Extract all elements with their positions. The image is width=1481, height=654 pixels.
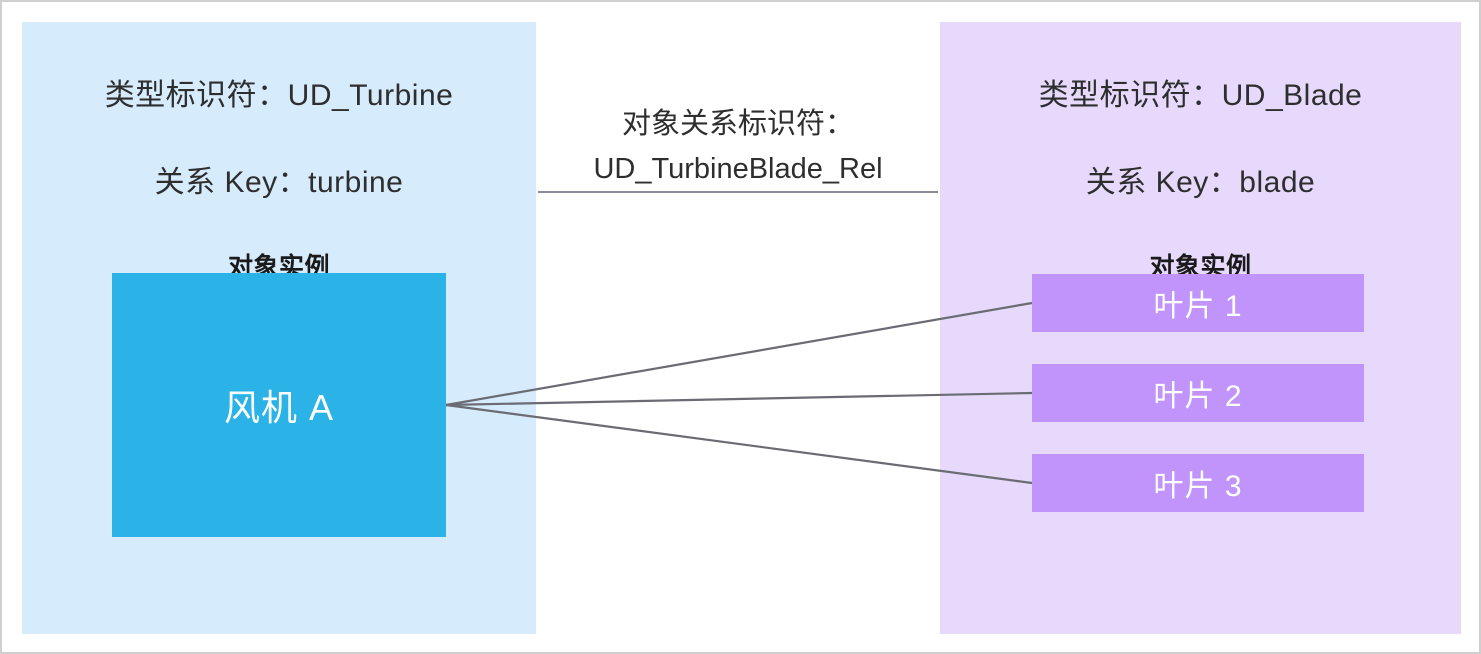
relation-underline-divider xyxy=(538,191,938,193)
blade-type-identifier-label: 类型标识符：UD_Blade xyxy=(940,70,1461,114)
blade-relation-key-label: 关系 Key：blade xyxy=(940,157,1461,201)
turbine-instance-label: 风机 A xyxy=(224,379,334,431)
relation-identifier-value: UD_TurbineBlade_Rel xyxy=(536,147,940,192)
diagram-canvas: 类型标识符：UD_Turbine 关系 Key：turbine 对象实例 类型标… xyxy=(0,0,1481,654)
relation-identifier-caption: 对象关系标识符： xyxy=(536,102,940,147)
blade-instance-node-2[interactable]: 叶片 2 xyxy=(1032,364,1364,422)
turbine-instance-node[interactable]: 风机 A xyxy=(112,273,446,537)
turbine-type-identifier-label: 类型标识符：UD_Turbine xyxy=(22,70,536,114)
blade-instance-node-1[interactable]: 叶片 1 xyxy=(1032,274,1364,332)
blade-instance-label-1: 叶片 1 xyxy=(1153,281,1242,325)
blade-instance-label-3: 叶片 3 xyxy=(1153,461,1242,505)
turbine-relation-key-label: 关系 Key：turbine xyxy=(22,157,536,201)
blade-instance-node-3[interactable]: 叶片 3 xyxy=(1032,454,1364,512)
blade-instance-label-2: 叶片 2 xyxy=(1153,371,1242,415)
relation-identifier-block: 对象关系标识符： UD_TurbineBlade_Rel xyxy=(536,102,940,192)
